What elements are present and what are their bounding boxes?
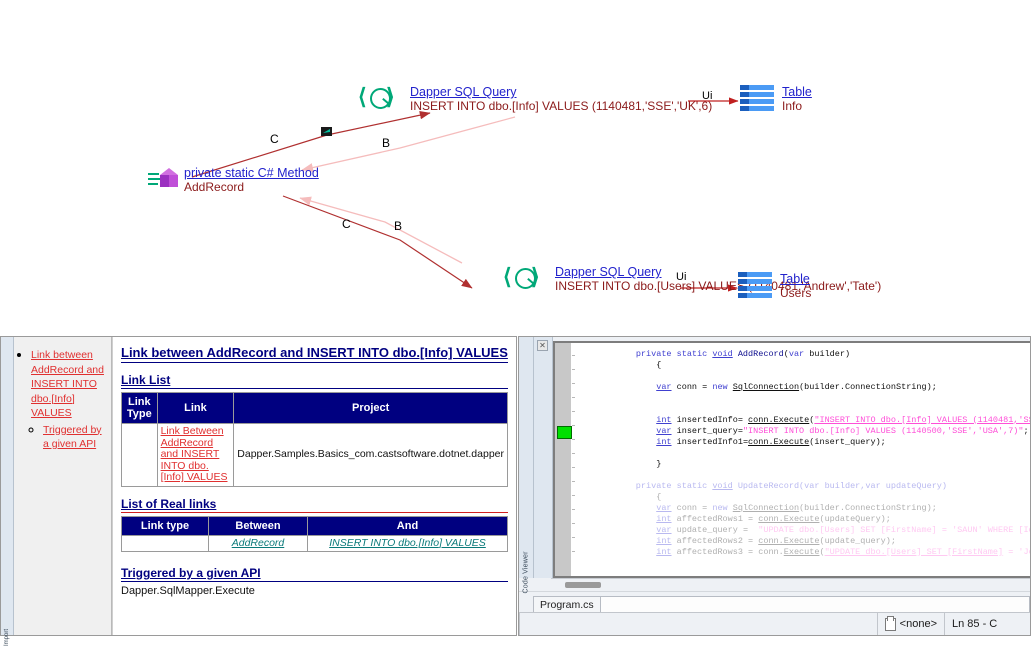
report-body: Link between AddRecord and INSERT INTO d…	[112, 337, 516, 635]
table-row: Link Between AddRecord and INSERT INTO d…	[122, 424, 508, 487]
node-sublabel: Info	[782, 99, 812, 113]
cell-link-type	[122, 424, 158, 487]
status-position-label: Ln 85 - C	[952, 618, 997, 630]
toc-link-root[interactable]: Link between AddRecord and INSERT INTO d…	[31, 349, 104, 419]
between-link[interactable]: AddRecord	[232, 537, 285, 549]
real-links-table: Link type Between And AddRecord INSERT I…	[121, 516, 508, 553]
node-label[interactable]: Dapper SQL Query	[410, 85, 712, 99]
table-header-row: Link Type Link Project	[122, 393, 508, 424]
node-label[interactable]: Dapper SQL Query	[555, 265, 881, 279]
node-label[interactable]: Table	[780, 272, 811, 286]
link-label-b-lower: B	[394, 219, 402, 233]
link-method-to-query2	[283, 196, 472, 288]
report-vertical-tab-label: Import	[4, 614, 10, 646]
toc-item-root[interactable]: Link between AddRecord and INSERT INTO d…	[31, 347, 107, 451]
cell-link-type	[122, 535, 209, 552]
node-sublabel: Users	[780, 286, 811, 300]
node-sublabel: INSERT INTO dbo.[Users] VALUES (1140481,…	[555, 279, 881, 293]
file-tab-program-cs[interactable]: Program.cs	[533, 596, 601, 612]
code-text-area[interactable]: private static void AddRecord(var builde…	[581, 343, 1030, 576]
cell-and[interactable]: INSERT INTO dbo.[Info] VALUES	[308, 535, 508, 552]
node-sublabel: AddRecord	[184, 180, 319, 194]
code-viewer-panel: Code Viewer ✕ private static void AddRec…	[518, 336, 1031, 636]
table-icon	[738, 272, 772, 302]
status-selection-label: <none>	[900, 618, 937, 630]
col-link-type: Link type	[122, 516, 209, 535]
code-viewer-vertical-tab-label: Code Viewer	[523, 548, 530, 594]
real-links-heading: List of Real links	[121, 497, 508, 513]
code-viewer-vertical-tab[interactable]: Code Viewer	[519, 337, 534, 578]
triggered-api-value: Dapper.SqlMapper.Execute	[121, 585, 508, 597]
col-link: Link	[157, 393, 234, 424]
scrollbar-thumb[interactable]	[565, 582, 601, 588]
bookmark-icon[interactable]	[557, 426, 572, 439]
csharp-cube-icon	[148, 166, 182, 192]
status-position: Ln 85 - C	[944, 613, 1030, 635]
report-vertical-tab[interactable]: Import	[1, 337, 14, 635]
code-gutter[interactable]	[555, 343, 572, 576]
file-tab-row: Program.cs	[519, 591, 1030, 612]
link-label-c-lower: C	[342, 217, 351, 231]
and-link[interactable]: INSERT INTO dbo.[Info] VALUES	[329, 537, 486, 549]
node-label[interactable]: private static C# Method	[184, 166, 319, 180]
table-header-row: Link type Between And	[122, 516, 508, 535]
link-label-c-upper: C	[270, 132, 279, 146]
page-icon	[885, 618, 896, 631]
link-report-panel: Import Link between AddRecord and INSERT…	[0, 336, 517, 636]
table-row: AddRecord INSERT INTO dbo.[Info] VALUES	[122, 535, 508, 552]
col-link-type: Link Type	[122, 393, 158, 424]
close-icon[interactable]: ✕	[537, 340, 548, 351]
code-horizontal-scrollbar[interactable]	[551, 578, 1030, 591]
col-project: Project	[234, 393, 508, 424]
architecture-diagram: C B C B Ui Ui private static C# Method A…	[0, 0, 1031, 332]
table-icon	[740, 85, 774, 115]
link-query1-to-method	[302, 117, 515, 170]
col-and: And	[308, 516, 508, 535]
link-list-heading: Link List	[121, 373, 508, 389]
status-spacer	[519, 613, 877, 635]
code-tick-margin	[572, 343, 581, 576]
link-label-b-upper: B	[382, 136, 390, 150]
node-sql-query-info[interactable]: ⟨ ⟩ Dapper SQL Query INSERT INTO dbo.[In…	[358, 85, 712, 113]
link-query2-to-method	[300, 198, 462, 263]
triggered-api-heading: Triggered by a given API	[121, 566, 508, 582]
node-sql-query-users[interactable]: ⟨ ⟩ Dapper SQL Query INSERT INTO dbo.[Us…	[503, 265, 881, 293]
node-table-info[interactable]: Table Info	[740, 85, 812, 113]
toc-link-child[interactable]: Triggered by a given API	[43, 424, 102, 451]
status-selection[interactable]: <none>	[877, 613, 944, 635]
toc-item-child[interactable]: Triggered by a given API	[43, 422, 107, 451]
cell-project: Dapper.Samples.Basics_com.castsoftware.d…	[234, 424, 508, 487]
cell-between[interactable]: AddRecord	[209, 535, 308, 552]
col-between: Between	[209, 516, 308, 535]
file-tab-filler	[601, 596, 1030, 612]
report-table-of-contents: Link between AddRecord and INSERT INTO d…	[14, 337, 112, 635]
link-detail-link[interactable]: Link Between AddRecord and INSERT INTO d…	[161, 425, 228, 483]
status-bar: <none> Ln 85 - C	[519, 612, 1030, 635]
node-table-users[interactable]: Table Users	[738, 272, 811, 300]
code-viewer-left-strip: ✕	[534, 337, 553, 578]
cell-link[interactable]: Link Between AddRecord and INSERT INTO d…	[157, 424, 234, 487]
code-editor-frame: private static void AddRecord(var builde…	[553, 341, 1030, 578]
sql-query-icon: ⟨ ⟩	[358, 85, 400, 111]
node-sublabel: INSERT INTO dbo.[Info] VALUES (1140481,'…	[410, 99, 712, 113]
sql-query-icon: ⟨ ⟩	[503, 265, 545, 291]
report-title: Link between AddRecord and INSERT INTO d…	[121, 345, 508, 363]
node-label[interactable]: Table	[782, 85, 812, 99]
node-csharp-method[interactable]: private static C# Method AddRecord	[148, 166, 319, 194]
link-list-table: Link Type Link Project Link Between AddR…	[121, 392, 508, 487]
